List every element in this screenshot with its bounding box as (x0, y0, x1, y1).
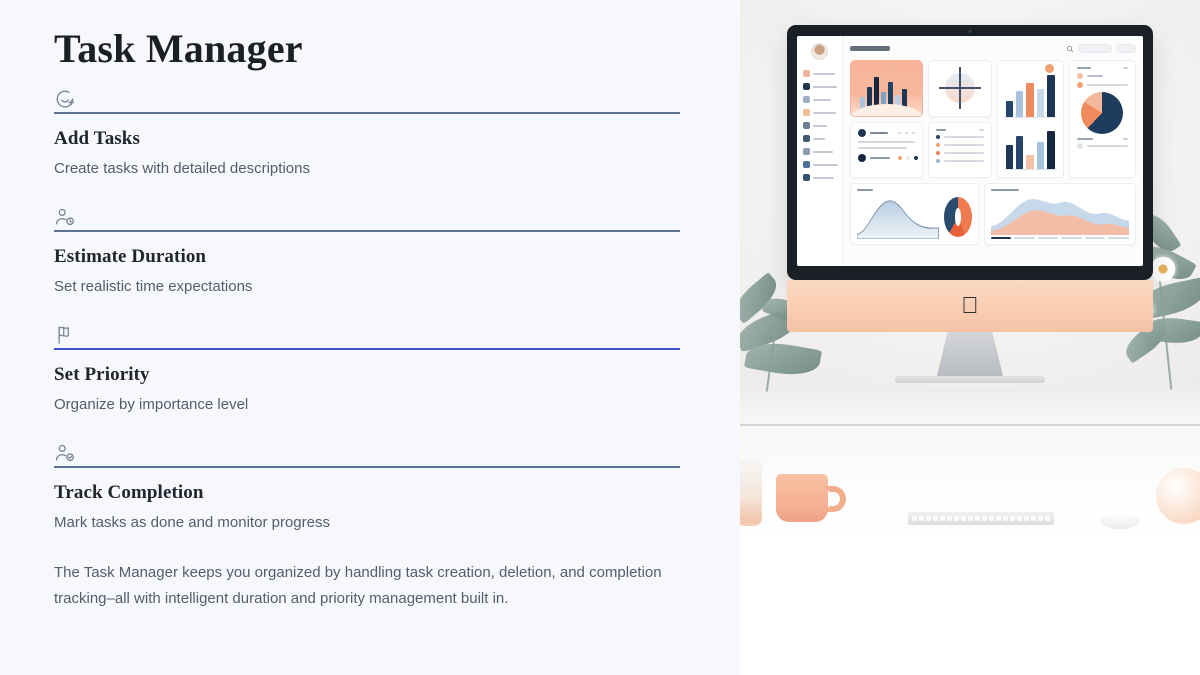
chart-marker (1045, 64, 1054, 73)
dashboard-title (850, 46, 890, 51)
sidebar-item-label (813, 86, 837, 88)
sidebar-item (803, 109, 836, 116)
dashboard-card-bar-chart (997, 60, 1064, 178)
page-title: Task Manager (54, 26, 680, 72)
avatar-thumb (858, 129, 866, 137)
feature-description: Organize by importance level (54, 395, 680, 415)
sidebar-item (803, 122, 836, 129)
check-icon (936, 159, 940, 163)
sidebar-item-icon (803, 70, 810, 77)
desk-photo:  (740, 0, 1200, 546)
legend-dot (1077, 73, 1083, 79)
card-menu-icon (979, 129, 984, 131)
sidebar-item-icon (803, 109, 810, 116)
webcam-icon (969, 30, 972, 33)
profile-name (870, 157, 890, 159)
sidebar-item-icon (803, 135, 810, 142)
check-icon (936, 135, 940, 139)
multi-area-chart (991, 194, 1129, 235)
sidebar-item-icon (803, 148, 810, 155)
dashboard-pill-button (1116, 44, 1136, 53)
feature-item-set-priority: Set Priority Organize by importance leve… (54, 324, 680, 415)
sidebar-item (803, 70, 836, 77)
vase-decoration (740, 460, 762, 526)
dashboard-header-actions (1066, 44, 1136, 53)
avatar (811, 43, 828, 60)
dashboard-card-grid (850, 60, 1136, 178)
legend-bar (1087, 84, 1128, 86)
dashboard-main (843, 36, 1143, 266)
slide-root: Task Manager Add Tasks Create tasks with… (0, 0, 1200, 675)
feature-title: Set Priority (54, 363, 680, 388)
card-menu-icon (1123, 138, 1128, 140)
sidebar-item (803, 83, 836, 90)
sidebar-item-label (813, 164, 838, 166)
imac-computer:  (787, 25, 1153, 383)
sidebar-item-icon (803, 161, 810, 168)
sidebar-item-label (813, 112, 836, 114)
feature-divider (54, 230, 680, 232)
dashboard-card-cityscape (850, 60, 923, 117)
search-icon (1066, 45, 1074, 53)
dashboard-card-performance (984, 183, 1136, 245)
content-panel: Task Manager Add Tasks Create tasks with… (0, 0, 740, 675)
feature-divider (54, 112, 680, 114)
dashboard-bottom-row (850, 183, 1136, 245)
summary-paragraph: The Task Manager keeps you organized by … (54, 560, 682, 612)
sidebar-item (803, 174, 836, 181)
check-icon (936, 143, 940, 147)
card-title (991, 189, 1019, 191)
profile-name (870, 132, 888, 134)
feature-item-estimate-duration: Estimate Duration Set realistic time exp… (54, 206, 680, 297)
sidebar-item-icon (803, 122, 810, 129)
sidebar-item-icon (803, 83, 810, 90)
imac-stand (937, 332, 1003, 376)
dashboard-pill-button (1078, 44, 1112, 53)
sidebar-item-label (813, 125, 827, 127)
avatar-thumb (858, 154, 866, 162)
dashboard-card-profile (850, 122, 923, 179)
sidebar-item-icon (803, 96, 810, 103)
hero-photo-panel:  (740, 0, 1200, 675)
card-title (936, 129, 946, 131)
card-menu-icon (1123, 67, 1128, 69)
legend-bar (1087, 145, 1128, 147)
apple-logo:  (961, 294, 978, 317)
legend-dot (1077, 82, 1083, 88)
feature-item-add-tasks: Add Tasks Create tasks with detailed des… (54, 88, 680, 179)
monitor-screen (797, 36, 1143, 266)
user-clock-icon (54, 206, 76, 228)
pie-chart (1081, 92, 1123, 134)
sidebar-item (803, 96, 836, 103)
sidebar-item-label (813, 138, 825, 140)
sidebar-item-icon (803, 174, 810, 181)
area-chart (857, 194, 939, 239)
feature-divider (54, 348, 680, 350)
card-title (857, 189, 873, 191)
flag-icon (54, 324, 76, 346)
check-icon (936, 151, 940, 155)
dashboard-card-target (928, 60, 992, 117)
sidebar-item-label (813, 177, 834, 179)
add-task-circle-icon (54, 88, 76, 110)
imac-stand-foot (895, 376, 1045, 383)
donut-chart (944, 197, 972, 237)
feature-title: Track Completion (54, 481, 680, 506)
imac-chin:  (787, 280, 1153, 332)
desk-edge (740, 424, 1200, 426)
feature-title: Add Tasks (54, 127, 680, 152)
legend-dot (1077, 143, 1083, 149)
card-title (1077, 67, 1091, 69)
feature-description: Set realistic time expectations (54, 277, 680, 297)
dashboard-card-trend-donut (850, 183, 979, 245)
user-check-icon (54, 442, 76, 464)
feature-item-track-completion: Track Completion Mark tasks as done and … (54, 442, 680, 533)
content-line (858, 141, 915, 143)
flower-decoration (1150, 256, 1176, 282)
sidebar-item (803, 148, 836, 155)
photo-fade-overlay (740, 520, 1200, 546)
dashboard-sidebar (797, 36, 843, 266)
dashboard-card-checklist (928, 122, 992, 179)
legend-label (1087, 75, 1103, 77)
photo-bottom-whitespace (740, 546, 1200, 675)
sidebar-item-label (813, 73, 835, 75)
feature-divider (54, 466, 680, 468)
feature-description: Create tasks with detailed descriptions (54, 159, 680, 179)
coffee-mug (776, 474, 828, 522)
sidebar-item-label (813, 99, 831, 101)
dashboard-header (850, 42, 1136, 55)
sidebar-item (803, 135, 836, 142)
target-icon (945, 73, 975, 103)
card-subtitle (1077, 138, 1093, 140)
feature-description: Mark tasks as done and monitor progress (54, 513, 680, 533)
sidebar-item (803, 161, 836, 168)
content-line (858, 147, 907, 149)
dashboard-card-stats (1069, 60, 1136, 178)
feature-title: Estimate Duration (54, 245, 680, 270)
monitor-bezel (787, 25, 1153, 280)
sidebar-item-label (813, 151, 833, 153)
